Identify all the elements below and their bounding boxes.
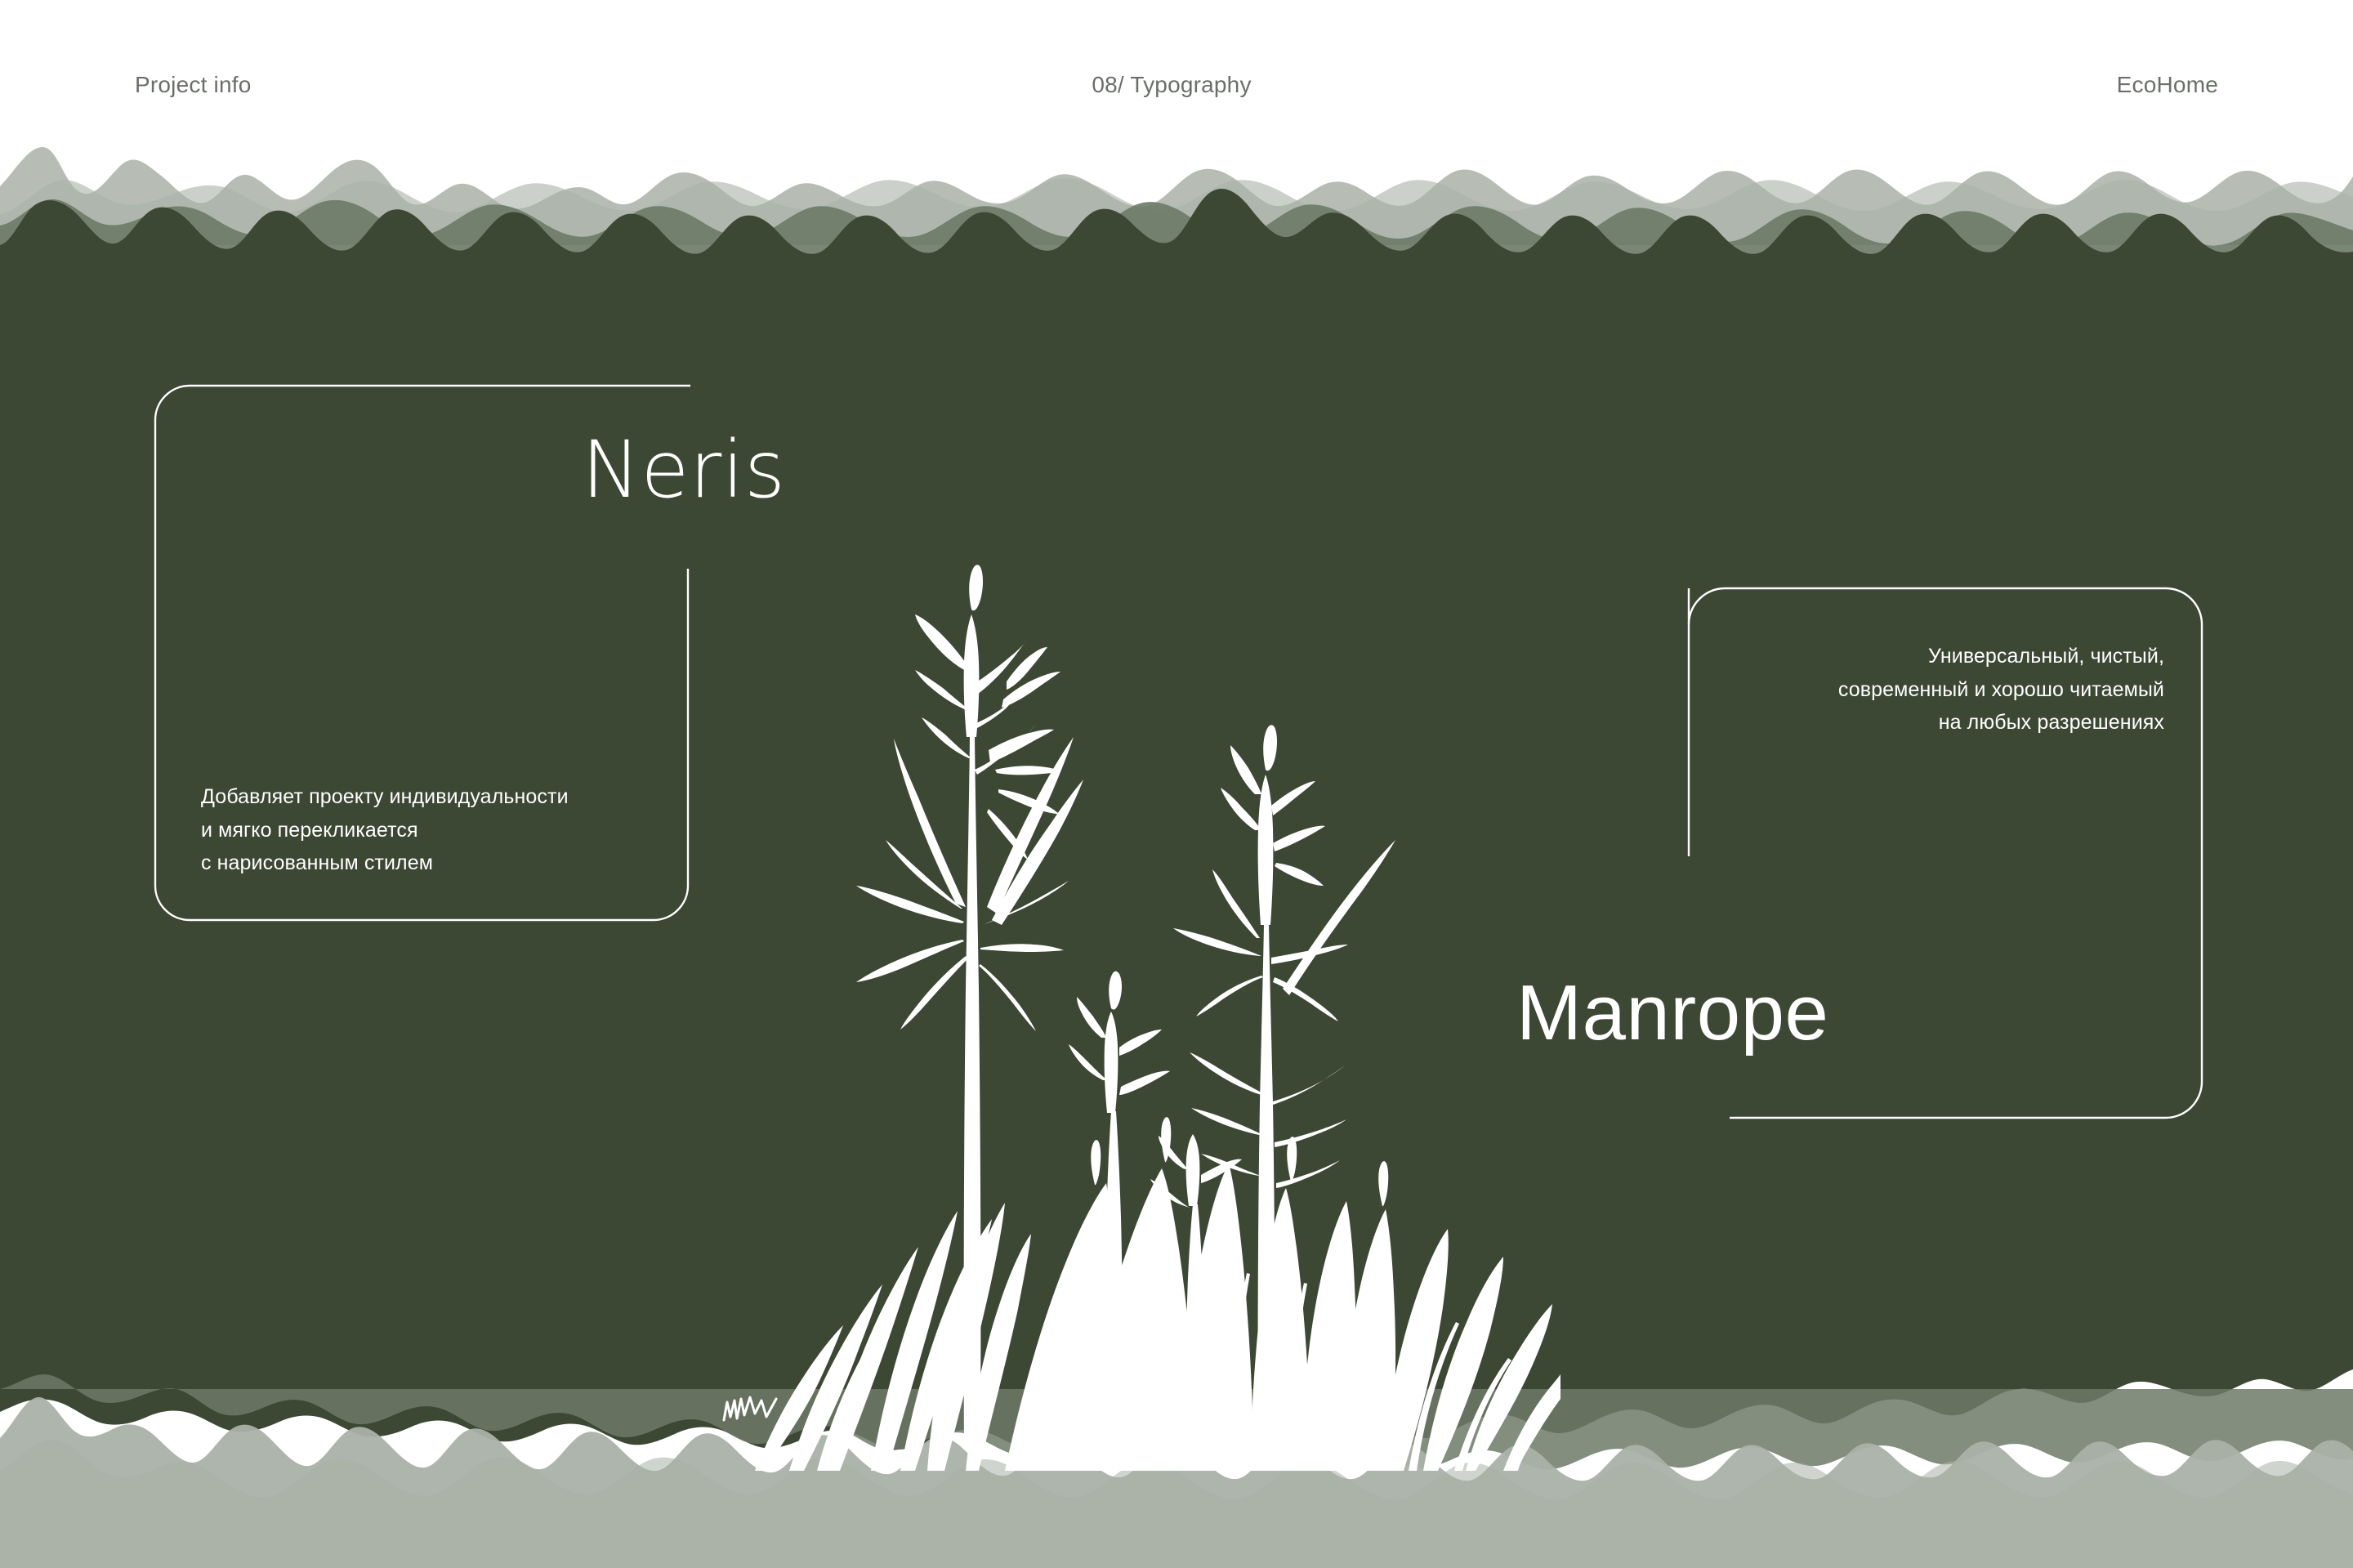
typeface-description-neris: Добавляет проекту индивидуальности и мяг… — [201, 780, 569, 880]
header-section-label: 08/ Typography — [1092, 74, 1251, 96]
typeface-name-manrope: Manrope — [1516, 974, 1828, 1052]
typeface-description-manrope: Универсальный, чистый, современный и хор… — [1838, 640, 2164, 739]
header-project-info[interactable]: Project info — [135, 74, 251, 96]
header-brand-name[interactable]: EcoHome — [2117, 74, 2218, 96]
typeface-name-neris: Neris — [582, 431, 786, 509]
slide-root: Project info 08/ Typography EcoHome — [0, 0, 2353, 1568]
